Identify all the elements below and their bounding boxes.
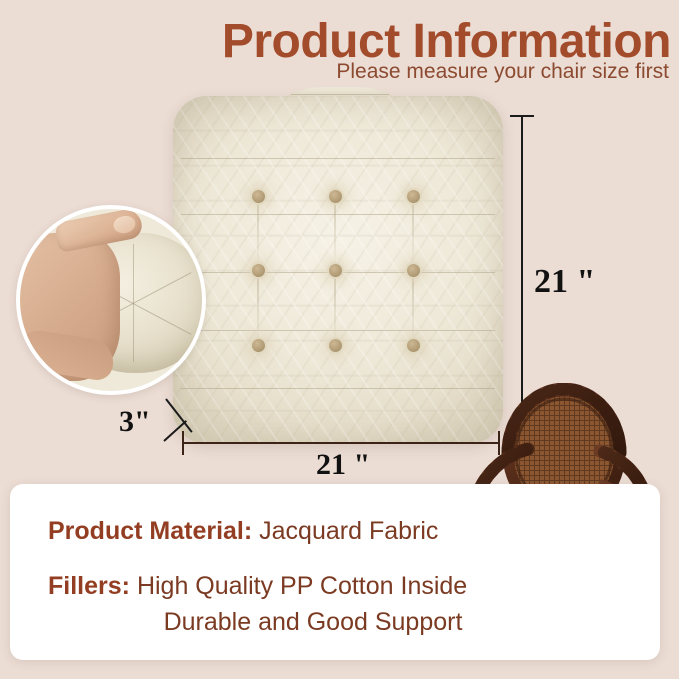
fillers-label: Fillers: — [48, 572, 130, 600]
hand-squeeze-inset-photo — [16, 205, 206, 395]
hand-fingers — [16, 328, 117, 383]
dimension-label-width: 21 " — [316, 448, 370, 482]
dimension-label-thickness: 3" — [119, 405, 151, 439]
dimension-cap-left — [182, 431, 184, 455]
hand-shape — [16, 233, 120, 381]
fillers-value: High Quality PP Cotton Inside — [137, 572, 467, 600]
fillers-row: Fillers: High Quality PP Cotton Inside — [48, 572, 467, 601]
dimension-cap-top — [510, 115, 534, 117]
product-details-card: Product Material: Jacquard Fabric Filler… — [10, 484, 660, 660]
product-material-value: Jacquard Fabric — [259, 517, 438, 545]
inset-cushion-fold — [133, 244, 134, 362]
page-subtitle: Please measure your chair size first — [0, 60, 669, 84]
dimension-label-height: 21 " — [534, 263, 595, 301]
product-information-infographic: Product Information Please measure your … — [0, 0, 679, 679]
product-material-row: Product Material: Jacquard Fabric — [48, 517, 438, 546]
thumb-nail — [112, 214, 137, 235]
fillers-second-line: Durable and Good Support — [48, 608, 578, 637]
product-material-label: Product Material: — [48, 517, 252, 545]
